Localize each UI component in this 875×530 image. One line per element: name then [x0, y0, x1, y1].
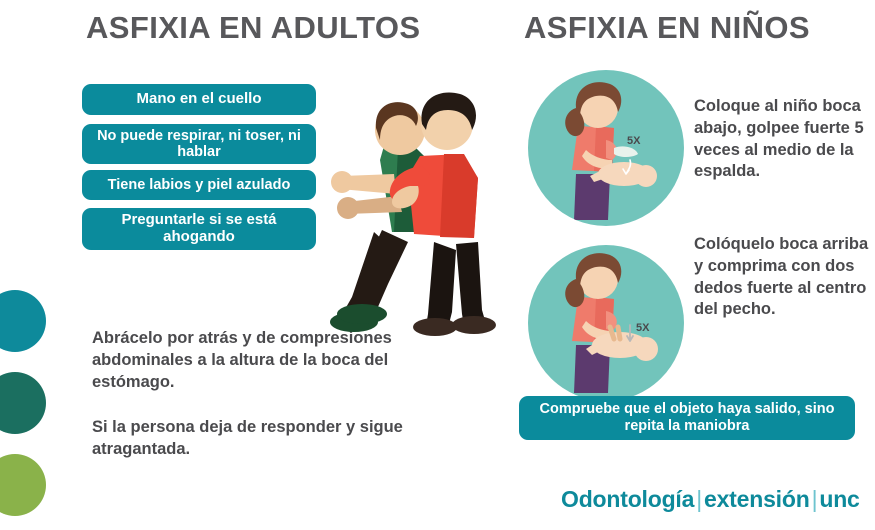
- logo-text-unc: unc: [819, 486, 859, 513]
- logo-separator-2: |: [812, 486, 818, 513]
- logo-text-odontologia: Odontología: [561, 486, 694, 513]
- instruction-text-chest-thrusts: Colóquelo boca arriba y comprima con dos…: [694, 234, 870, 321]
- repetition-label-1: 5X: [627, 135, 641, 147]
- infant-chest-thrusts-illustration: 5X: [528, 245, 684, 401]
- decorative-circle-dark-green: [0, 372, 46, 434]
- infant-back-blows-svg: 5X: [528, 70, 684, 226]
- verify-object-banner: Compruebe que el objeto haya salido, sin…: [519, 396, 855, 440]
- infant-back-blows-illustration: 5X: [528, 70, 684, 226]
- decorative-circle-olive: [0, 454, 46, 516]
- page-title-children: ASFIXIA EN NIÑOS: [524, 10, 810, 46]
- symptom-badge-ask-if-choking: Preguntarle si se está ahogando: [82, 208, 316, 250]
- instruction-text-back-blows: Coloque al niño boca abajo, golpee fuert…: [694, 96, 870, 183]
- decorative-circle-teal: [0, 290, 46, 352]
- symptom-badge-cannot-breathe: No puede respirar, ni toser, ni hablar: [82, 124, 316, 164]
- page-title-adults: ASFIXIA EN ADULTOS: [86, 10, 420, 46]
- logo-text-extension: extensión: [704, 486, 810, 513]
- odontologia-extension-unc-logo: Odontología | extensión | unc: [561, 486, 860, 513]
- logo-separator-1: |: [696, 486, 702, 513]
- symptom-badge-hand-to-neck: Mano en el cuello: [82, 84, 316, 115]
- infographic-canvas: ASFIXIA EN ADULTOS ASFIXIA EN NIÑOS Mano…: [0, 0, 875, 530]
- symptom-badge-blue-lips-skin: Tiene labios y piel azulado: [82, 170, 316, 200]
- infant-chest-thrusts-svg: 5X: [528, 245, 684, 401]
- adult-heimlich-maneuver-illustration: [322, 82, 504, 340]
- repetition-label-2: 5X: [636, 322, 650, 334]
- instruction-paragraph-unresponsive: Si la persona deja de responder y sigue …: [92, 417, 422, 461]
